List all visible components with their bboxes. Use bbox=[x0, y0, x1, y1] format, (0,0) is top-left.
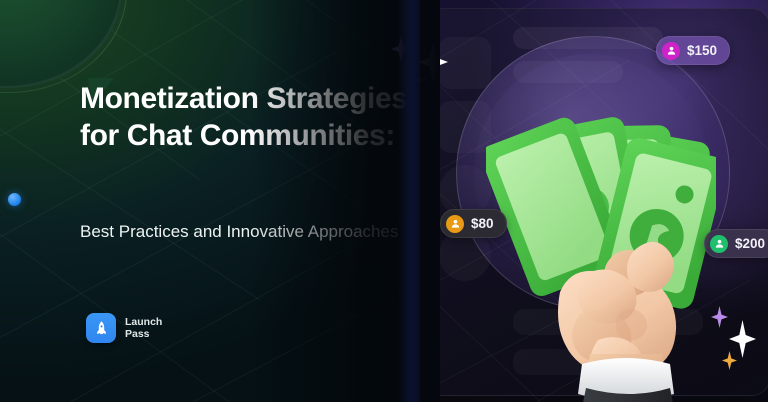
badge-150[interactable]: $150 bbox=[656, 36, 730, 65]
logo-text: Launch Pass bbox=[125, 316, 162, 341]
logo-text-line1: Launch bbox=[125, 316, 162, 329]
logo-text-line2: Pass bbox=[125, 328, 162, 341]
rocket-icon bbox=[93, 320, 110, 337]
logo-mark bbox=[86, 313, 116, 343]
user-avatar-icon bbox=[710, 235, 728, 253]
user-avatar-icon bbox=[662, 42, 680, 60]
badge-amount: $200 bbox=[735, 236, 765, 251]
sparkle-gold-2 bbox=[722, 351, 737, 370]
hand-holding-cash-illustration bbox=[486, 96, 716, 402]
cash-and-hand-svg bbox=[486, 96, 716, 402]
blog-banner: Monetization Strategies for Chat Communi… bbox=[0, 0, 768, 402]
badge-amount: $150 bbox=[687, 43, 717, 58]
blue-dot bbox=[8, 193, 21, 206]
panel-seam bbox=[398, 0, 420, 402]
sparkle-purple-2 bbox=[711, 306, 728, 328]
badge-80[interactable]: $80 bbox=[440, 209, 507, 238]
user-avatar-icon bbox=[446, 215, 464, 233]
brand-logo[interactable]: Launch Pass bbox=[86, 313, 162, 343]
badge-200[interactable]: $200 bbox=[704, 229, 768, 258]
badge-amount: $80 bbox=[471, 216, 494, 231]
